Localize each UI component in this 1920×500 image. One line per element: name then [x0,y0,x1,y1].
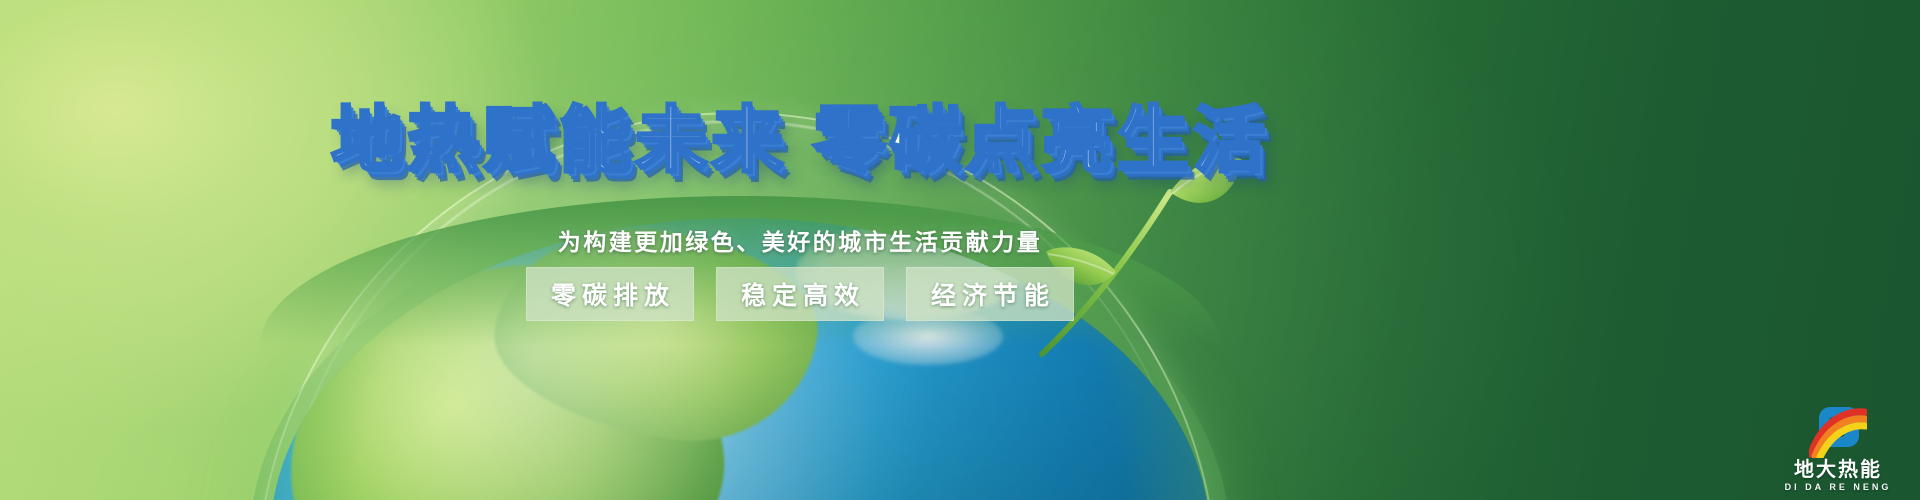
headline-part-2: 零碳点亮生活 [813,101,1269,181]
feature-tag-list: 零碳排放 稳定高效 经济节能 [0,267,1600,321]
banner-subtitle: 为构建更加绿色、美好的城市生活贡献力量 [0,223,1600,257]
headline-part-1: 地热赋能未来 [331,101,787,181]
promo-banner: 地热赋能未来零碳点亮生活 为构建更加绿色、美好的城市生活贡献力量 零碳排放 稳定… [0,0,1920,500]
rounded-square-rainbow-arc-icon [1809,406,1867,458]
logo-name-cn: 地大热能 [1794,460,1882,480]
logo-name-en: DI DA RE NENG [1785,483,1892,492]
feature-tag-zero-carbon[interactable]: 零碳排放 [526,267,694,321]
company-logo[interactable]: 地大热能 DI DA RE NENG [1778,396,1898,492]
feature-tag-economical-energy-saving[interactable]: 经济节能 [906,267,1074,321]
banner-headline: 地热赋能未来零碳点亮生活 [0,104,1600,180]
feature-tag-stable-efficient[interactable]: 稳定高效 [716,267,884,321]
